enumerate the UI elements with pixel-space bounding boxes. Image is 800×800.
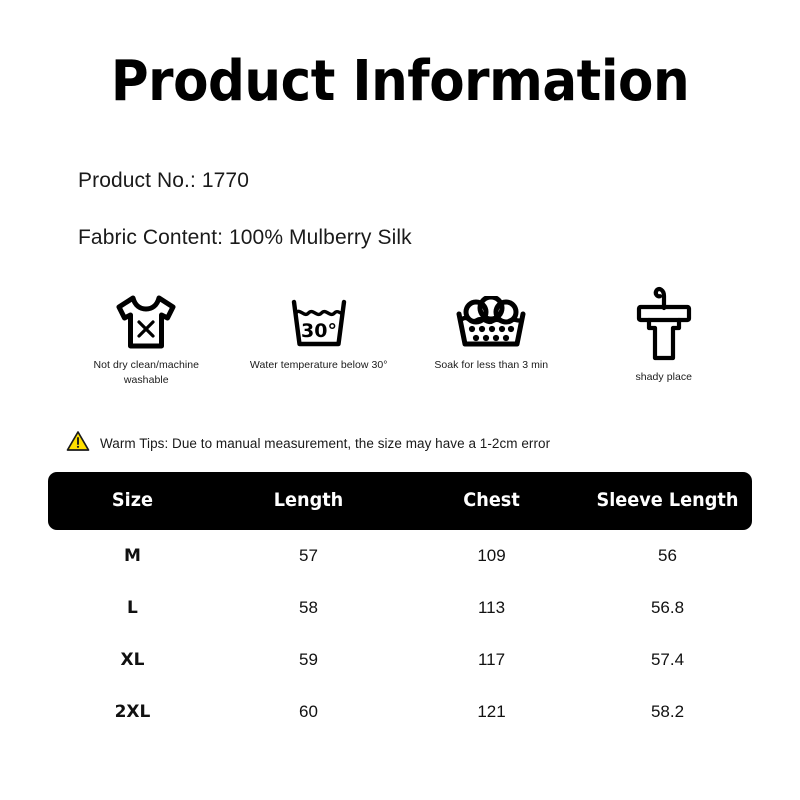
- wash-tub-30-degrees-icon: 30°: [285, 278, 353, 352]
- cell-sleeve: 57.4: [583, 650, 752, 670]
- warning-triangle-icon: [66, 430, 90, 457]
- cell-length: 60: [217, 702, 400, 722]
- cell-sleeve: 56: [583, 546, 752, 566]
- column-header-size: Size: [54, 490, 211, 511]
- care-label-shady-place: shady place: [635, 370, 692, 385]
- table-row: 2XL 60 121 58.2: [48, 686, 752, 738]
- care-label-no-dryclean: Not dry clean/machine washable: [76, 358, 216, 388]
- cell-length: 59: [217, 650, 400, 670]
- cell-sleeve: 58.2: [583, 702, 752, 722]
- table-row: M 57 109 56: [48, 530, 752, 582]
- cell-chest: 121: [400, 702, 583, 722]
- size-table-header: Size Length Chest Sleeve Length: [48, 472, 752, 530]
- care-item-water-temperature: 30° Water temperature below 30°: [233, 278, 406, 373]
- column-header-length: Length: [223, 490, 393, 511]
- care-item-no-dryclean: Not dry clean/machine washable: [60, 278, 233, 388]
- size-table: Size Length Chest Sleeve Length M 57 109…: [48, 472, 752, 738]
- soak-basin-icon: [451, 278, 531, 352]
- cell-chest: 117: [400, 650, 583, 670]
- table-row: XL 59 117 57.4: [48, 634, 752, 686]
- cell-size: 2XL: [48, 702, 217, 722]
- cell-size: XL: [48, 650, 217, 670]
- care-item-shady-place: shady place: [578, 278, 751, 385]
- tshirt-no-dryclean-icon: [111, 278, 181, 352]
- cell-chest: 113: [400, 598, 583, 618]
- care-instruction-row: Not dry clean/machine washable 30° Water…: [60, 278, 750, 388]
- care-label-water-temperature: Water temperature below 30°: [250, 358, 388, 373]
- warm-tips: Warm Tips: Due to manual measurement, th…: [66, 430, 550, 457]
- page-title: Product Information: [32, 54, 768, 110]
- fabric-content-line: Fabric Content: 100% Mulberry Silk: [78, 226, 412, 250]
- product-number-line: Product No.: 1770: [78, 169, 249, 193]
- cell-length: 57: [217, 546, 400, 566]
- care-item-soak-time: Soak for less than 3 min: [405, 278, 578, 373]
- column-header-chest: Chest: [406, 490, 576, 511]
- cell-size: L: [48, 598, 217, 618]
- cell-length: 58: [217, 598, 400, 618]
- care-label-soak-time: Soak for less than 3 min: [434, 358, 548, 373]
- product-information-page: Product Information Product No.: 1770 Fa…: [0, 0, 800, 800]
- cell-chest: 109: [400, 546, 583, 566]
- warm-tips-text: Warm Tips: Due to manual measurement, th…: [100, 436, 550, 451]
- hanger-shirt-icon: [631, 278, 697, 364]
- cell-sleeve: 56.8: [583, 598, 752, 618]
- svg-text:30°: 30°: [301, 320, 337, 342]
- table-row: L 58 113 56.8: [48, 582, 752, 634]
- cell-size: M: [48, 546, 217, 566]
- column-header-sleeve-length: Sleeve Length: [589, 490, 746, 511]
